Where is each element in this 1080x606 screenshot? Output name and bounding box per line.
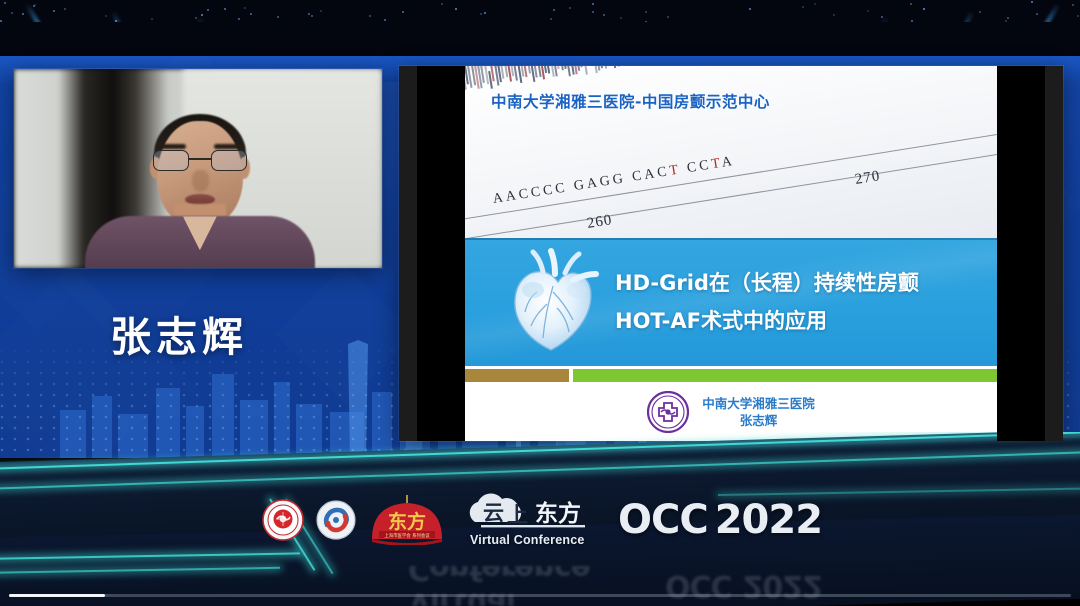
- occ-wordmark: OCC2022: [618, 499, 822, 541]
- letterbox-bar-right-inner: [997, 66, 1045, 441]
- star-dot: [238, 18, 240, 20]
- star-dot: [1077, 15, 1079, 17]
- footer-presenter: 张志辉: [702, 412, 815, 429]
- speaker-brow-left: [156, 144, 186, 149]
- star-dot: [979, 11, 981, 13]
- accent-bar-gold: [465, 369, 569, 382]
- star-dot: [592, 11, 594, 13]
- star-dot: [53, 10, 55, 12]
- star-dot: [867, 10, 869, 12]
- cloud-icon: 云 上 东方: [457, 492, 607, 534]
- star-dot: [910, 3, 912, 5]
- star-dot: [250, 13, 252, 15]
- slide-header-title: 中南大学湘雅三医院-中国房颤示范中心: [491, 90, 770, 112]
- star-dot: [105, 15, 107, 17]
- star-dot: [1072, 4, 1074, 6]
- slide-title-band: HD-Grid在（长程）持续性房颤 HOT-AF术式中的应用: [465, 238, 997, 366]
- cloud-text-shang: 上: [507, 503, 528, 527]
- oriental-congress-dome-emblem-icon: 东方 上海市医学会 系列会议: [368, 495, 446, 545]
- conference-stream-stage: 张志辉 AACCCC GAGG CACT CCTA 260 270 中南大学湘雅…: [0, 0, 1080, 606]
- glasses-lens-left: [153, 150, 189, 171]
- star-dot: [34, 4, 36, 6]
- slide-content: AACCCC GAGG CACT CCTA 260 270 中南大学湘雅三医院-…: [465, 66, 997, 441]
- star-dot: [1031, 1, 1033, 3]
- star-dot: [569, 7, 571, 9]
- slide-main-title: HD-Grid在（长程）持续性房颤 HOT-AF术式中的应用: [615, 264, 983, 340]
- star-dot: [64, 8, 66, 10]
- star-dot: [4, 2, 6, 4]
- accent-bar-green: [573, 369, 997, 382]
- star-dot: [1007, 17, 1009, 19]
- speaker-brow-right: [214, 144, 244, 149]
- letterbox-bar-left-inner: [417, 66, 465, 441]
- star-dot: [550, 18, 552, 20]
- star-dot: [201, 14, 203, 16]
- star-dot: [369, 15, 371, 17]
- star-dot: [484, 12, 486, 14]
- star-dot: [22, 13, 24, 15]
- star-dot: [802, 6, 804, 8]
- star-dot: [402, 11, 404, 13]
- blue-red-swirl-emblem-icon: [315, 499, 357, 541]
- letterbox-bar-left-outer: [399, 66, 417, 441]
- occ-year: 2022: [715, 497, 822, 543]
- reflection-year: 2022: [743, 569, 823, 604]
- star-dot: [592, 3, 594, 5]
- star-dot: [207, 9, 209, 11]
- star-dot: [553, 9, 555, 11]
- star-dot: [151, 18, 153, 20]
- cloud-text-yun: 云: [483, 501, 504, 525]
- chinese-medical-association-emblem-icon: [262, 499, 304, 541]
- occ-text: OCC: [618, 497, 708, 543]
- star-dot: [833, 14, 835, 16]
- svg-text:上海市医学会 系列会议: 上海市医学会 系列会议: [384, 532, 430, 539]
- slide-accent-bars: [465, 369, 997, 382]
- reflection-virtual-conference: Virtual Conference: [408, 566, 654, 606]
- virtual-conference-label: Virtual Conference: [470, 533, 585, 547]
- presentation-slide-panel[interactable]: AACCCC GAGG CACT CCTA 260 270 中南大学湘雅三医院-…: [399, 66, 1063, 441]
- slide-footer-text: 中南大学湘雅三医院 张志辉: [702, 395, 815, 429]
- star-dot: [749, 8, 751, 10]
- star-dot: [308, 13, 310, 15]
- star-dot: [645, 11, 647, 13]
- speaker-glasses-icon: [153, 150, 247, 171]
- star-dot: [1036, 13, 1038, 15]
- branding-reflection: Virtual Conference OCC 2022: [262, 566, 822, 606]
- anatomical-heart-icon: [503, 246, 599, 358]
- star-dot: [923, 8, 925, 10]
- slide-title-line-2: HOT-AF术式中的应用: [615, 302, 983, 340]
- cloud-conference-logo: 云 上 东方 Virtual Conference: [457, 492, 607, 548]
- letterbox-bar-right-outer: [1045, 66, 1063, 441]
- speaker-figure: [14, 69, 382, 268]
- glasses-lens-right: [211, 150, 247, 171]
- star-dot: [277, 16, 279, 18]
- slide-title-line-1: HD-Grid在（长程）持续性房颤: [615, 264, 983, 302]
- star-dot: [224, 8, 226, 10]
- footer-organization: 中南大学湘雅三医院: [702, 395, 815, 412]
- star-dot: [667, 16, 669, 18]
- star-dot: [480, 13, 482, 15]
- conference-branding: 东方 上海市医学会 系列会议 云 上 东方 Virtual Conference…: [262, 489, 822, 551]
- star-dot: [11, 12, 13, 14]
- star-dot: [320, 10, 322, 12]
- cloud-text-dongfang: 东方: [535, 500, 581, 527]
- star-dot: [814, 3, 816, 5]
- glasses-bridge: [189, 158, 211, 160]
- svg-text:东方: 东方: [388, 510, 426, 533]
- star-dot: [455, 8, 457, 10]
- speaker-video-panel[interactable]: [14, 69, 382, 268]
- star-dot: [311, 15, 313, 17]
- star-dot: [244, 7, 246, 9]
- star-dot: [384, 19, 386, 21]
- video-progress-fill: [9, 594, 105, 597]
- video-progress-bar[interactable]: [9, 594, 1071, 597]
- star-dot: [603, 14, 605, 16]
- dna-bases-end: A: [721, 154, 736, 171]
- speaker-name-label: 张志辉: [110, 303, 370, 363]
- reflection-occ: OCC: [665, 569, 732, 604]
- star-dot: [620, 17, 622, 19]
- hospital-emblem-icon: [647, 391, 689, 433]
- star-dot: [441, 3, 443, 5]
